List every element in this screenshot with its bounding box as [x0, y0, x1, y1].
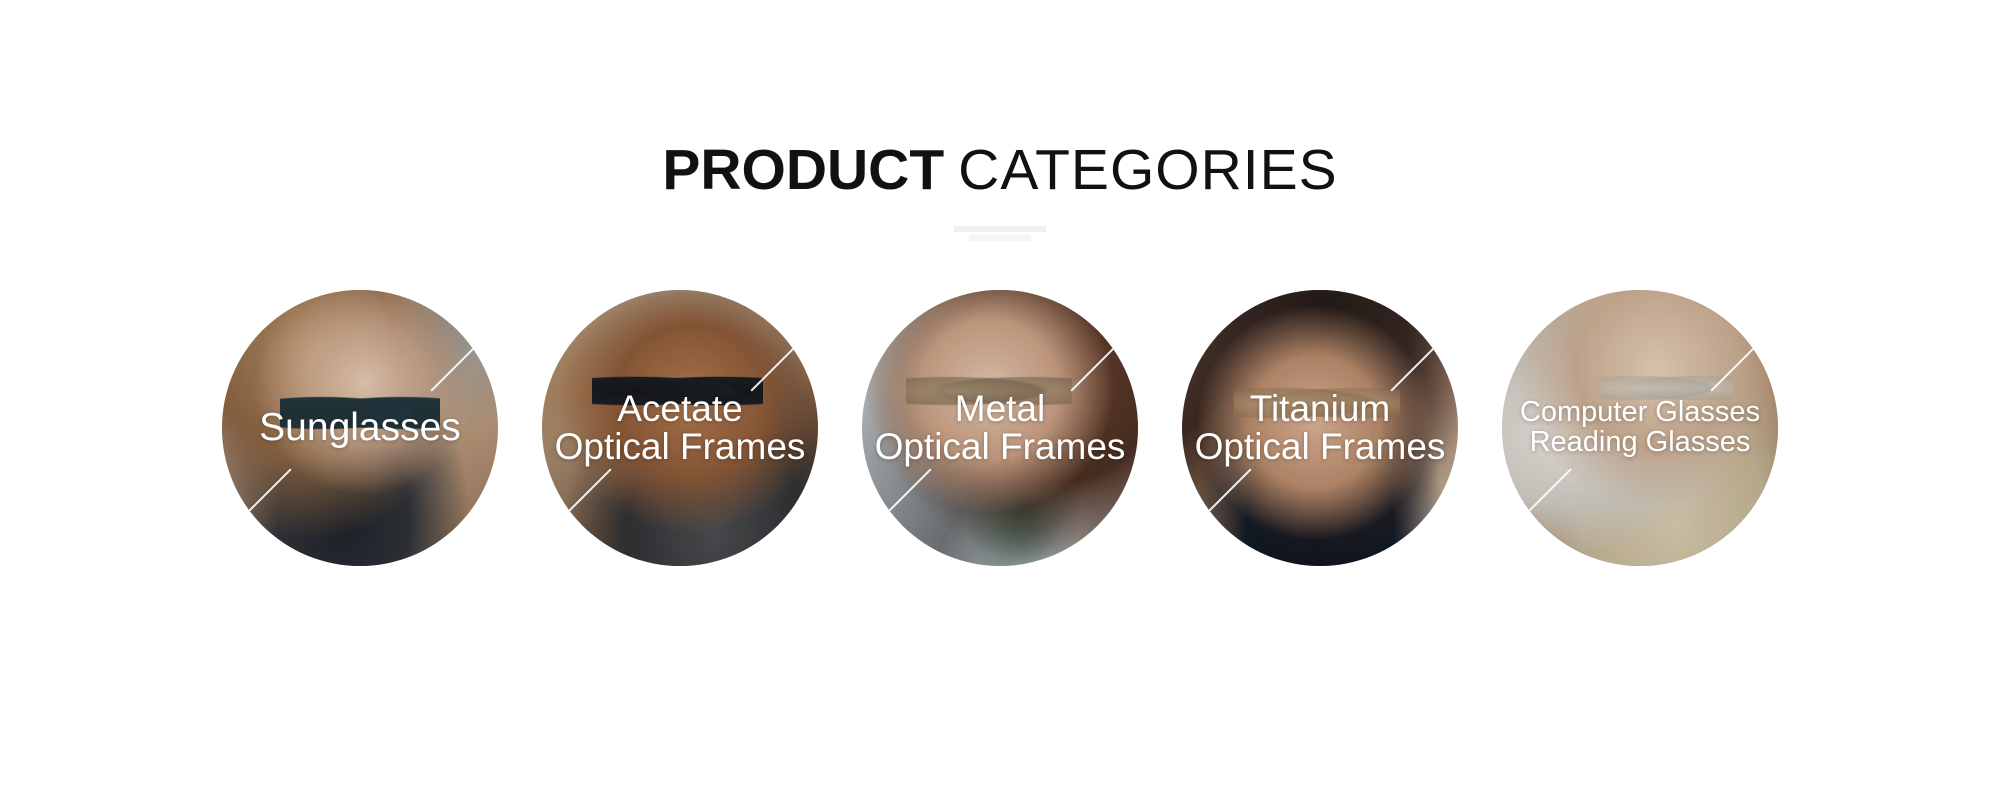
diagonal-line-bottom-icon: [1506, 468, 1571, 533]
diagonal-line-top-icon: [1710, 326, 1775, 391]
diagonal-line-top-icon: [750, 326, 815, 391]
category-card-metal-optical-frames[interactable]: Metal Optical Frames: [862, 290, 1138, 566]
diagonal-line-top-icon: [1390, 326, 1455, 391]
diagonal-line-bottom-icon: [866, 468, 931, 533]
section-header: PRODUCTCATEGORIES: [0, 140, 2000, 200]
diagonal-accent: [1502, 290, 1778, 566]
diagonal-accent: [222, 290, 498, 566]
diagonal-accent: [1182, 290, 1458, 566]
diagonal-line-bottom-icon: [546, 468, 611, 533]
diagonal-accent: [542, 290, 818, 566]
category-card-titanium-optical-frames[interactable]: Titanium Optical Frames: [1182, 290, 1458, 566]
page-title-bold: PRODUCT: [662, 138, 944, 202]
category-image-circle: [222, 290, 498, 566]
page-title: PRODUCTCATEGORIES: [0, 140, 2000, 200]
divider-bar-bottom: [969, 235, 1031, 241]
category-card-computer-reading-glasses[interactable]: Computer Glasses Reading Glasses: [1502, 290, 1778, 566]
diagonal-line-bottom-icon: [226, 468, 291, 533]
category-image-circle: [542, 290, 818, 566]
category-image-circle: [1502, 290, 1778, 566]
diagonal-accent: [862, 290, 1138, 566]
category-list: Sunglasses Acetate Optical Frames: [0, 290, 2000, 566]
divider-bar-top: [954, 226, 1046, 232]
product-categories-section: PRODUCTCATEGORIES Sunglasses: [0, 0, 2000, 800]
category-image-circle: [1182, 290, 1458, 566]
diagonal-line-top-icon: [430, 326, 495, 391]
category-card-sunglasses[interactable]: Sunglasses: [222, 290, 498, 566]
title-divider: [0, 226, 2000, 241]
diagonal-line-bottom-icon: [1186, 468, 1251, 533]
diagonal-line-top-icon: [1070, 326, 1135, 391]
category-image-circle: [862, 290, 1138, 566]
page-title-light: CATEGORIES: [958, 138, 1338, 202]
category-card-acetate-optical-frames[interactable]: Acetate Optical Frames: [542, 290, 818, 566]
